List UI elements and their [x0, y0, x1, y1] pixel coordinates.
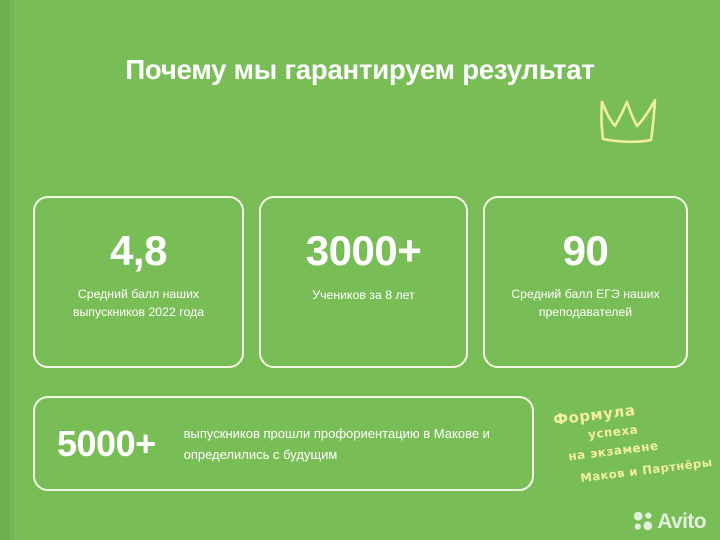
- left-edge-strip-inner: [9, 0, 14, 540]
- stat-card-students-count: 3000+ Учеников за 8 лет: [259, 196, 468, 368]
- stat-description: выпускников прошли профориентацию в Мако…: [184, 423, 532, 465]
- left-edge-strip: [0, 0, 9, 540]
- crown-doodle-icon: [592, 88, 662, 150]
- handwriting-line-3: на экзамене: [567, 439, 659, 464]
- stat-value: 90: [485, 228, 686, 274]
- page-title: Почему мы гарантируем результат: [110, 52, 610, 88]
- handwriting-line-2: успеха: [587, 422, 638, 441]
- stat-card-career-guidance: 5000+ выпускников прошли профориентацию …: [33, 396, 534, 491]
- avito-watermark: Avito: [633, 511, 706, 532]
- stat-description: Средний балл наших выпускников 2022 года: [43, 286, 234, 321]
- stat-value: 3000+: [261, 228, 466, 274]
- handwritten-brand-logo: Формула успеха на экзамене Маков и Партн…: [548, 404, 713, 494]
- stat-card-average-score-graduates: 4,8 Средний балл наших выпускников 2022 …: [33, 196, 244, 368]
- stat-value: 5000+: [57, 424, 156, 464]
- avito-dots-icon: [633, 511, 654, 532]
- stat-description: Учеников за 8 лет: [269, 287, 458, 305]
- promo-slide: Почему мы гарантируем результат 4,8 Сред…: [0, 0, 720, 540]
- avito-wordmark: Avito: [657, 511, 706, 532]
- stat-value: 4,8: [35, 228, 242, 274]
- stat-card-teachers-ege-score: 90 Средний балл ЕГЭ наших преподавателей: [483, 196, 688, 368]
- stat-description: Средний балл ЕГЭ наших преподавателей: [493, 286, 678, 321]
